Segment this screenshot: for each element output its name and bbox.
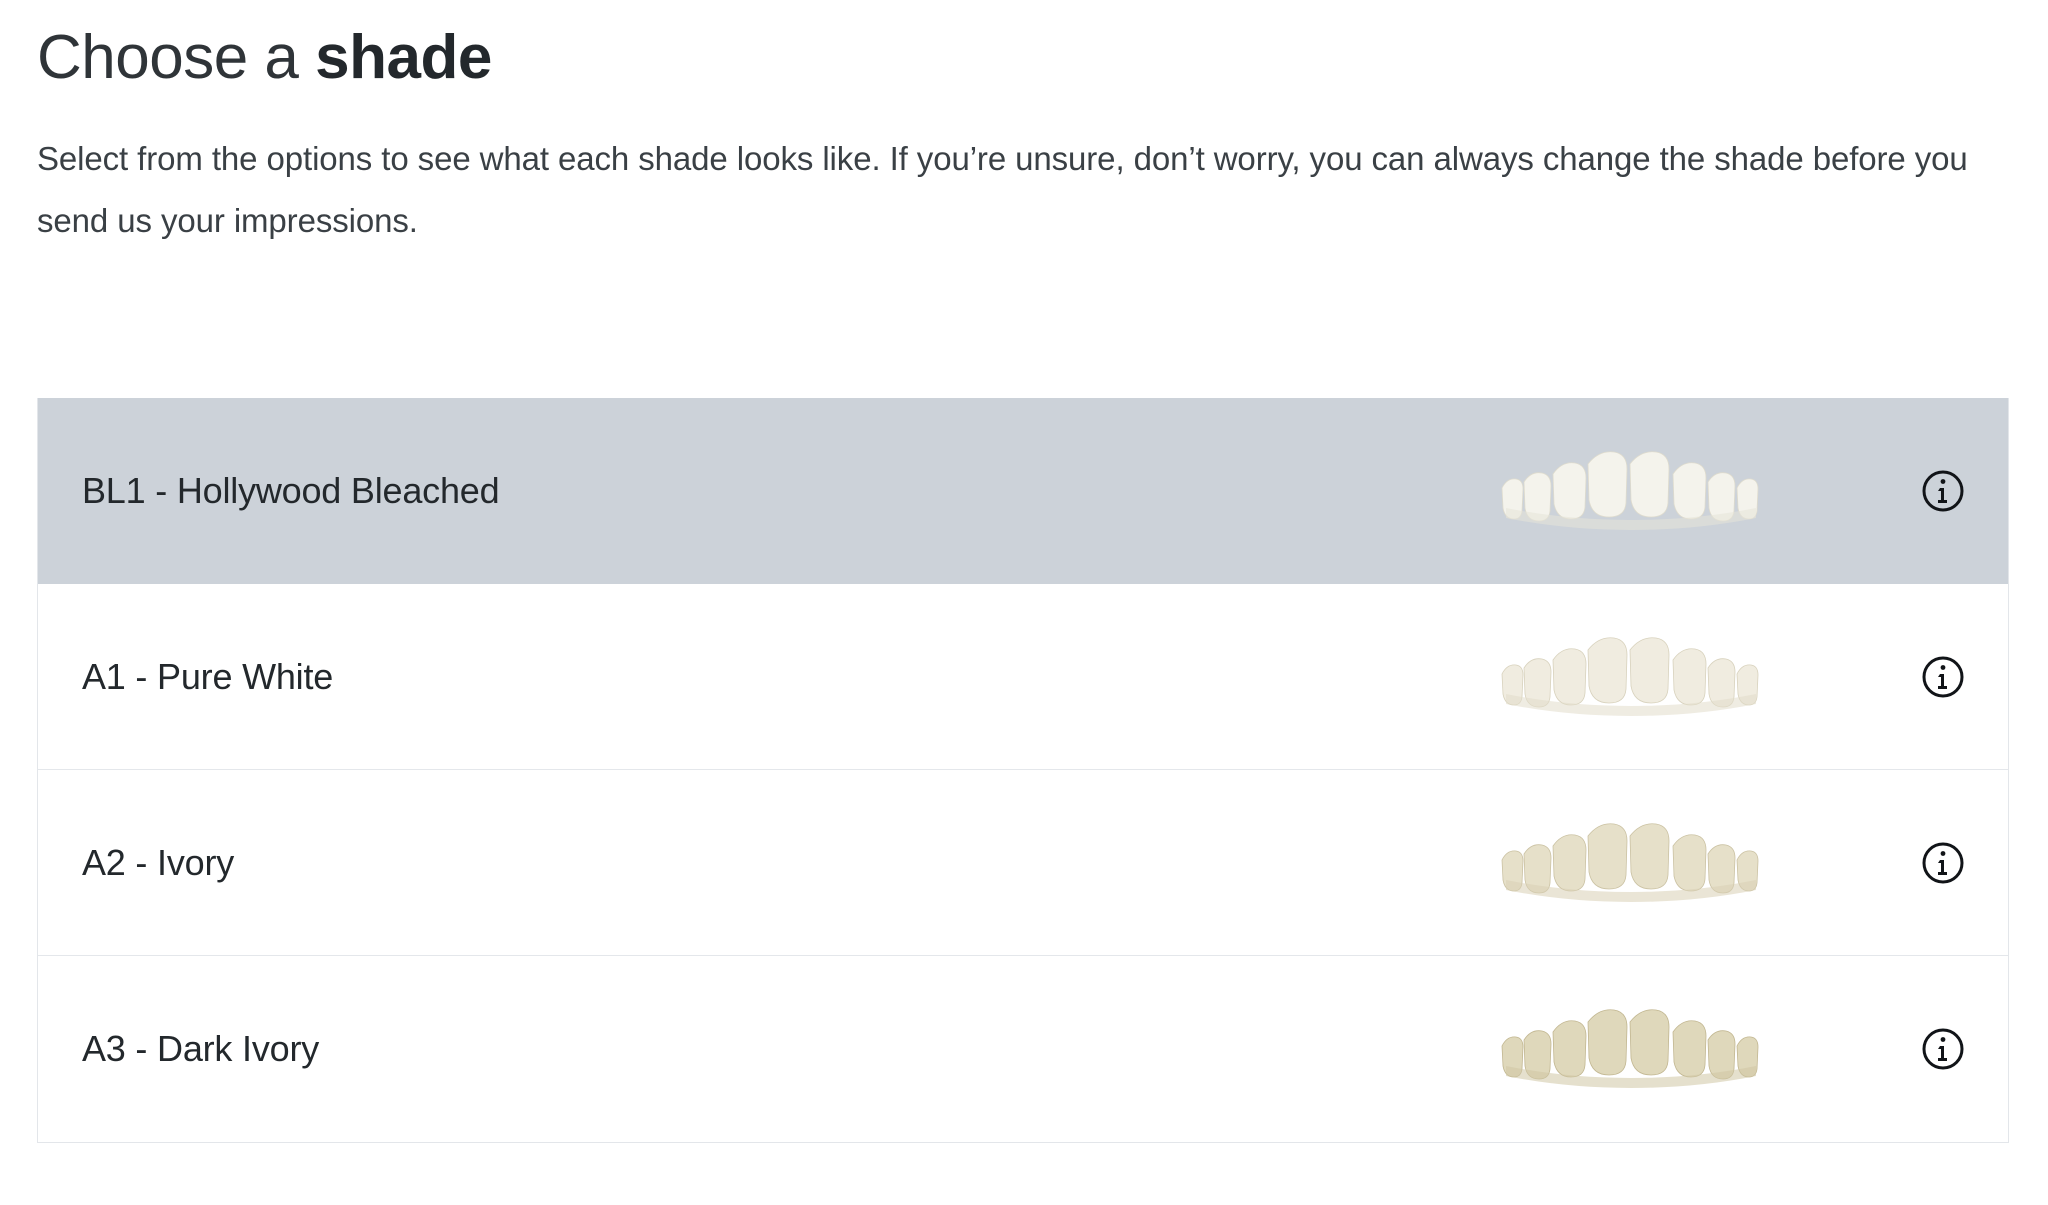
shade-option-row[interactable]: A1 - Pure White (38, 584, 2008, 770)
page-title: Choose a shade (37, 0, 2011, 96)
teeth-preview-icon (1496, 634, 1766, 720)
shade-options-list: BL1 - Hollywood Bleached (37, 398, 2009, 1143)
page-subtitle: Select from the options to see what each… (37, 96, 1997, 252)
page-title-light: Choose a (37, 23, 315, 92)
teeth-preview-icon (1496, 448, 1766, 534)
shade-option-label: A1 - Pure White (82, 655, 333, 699)
info-icon[interactable] (1916, 650, 1970, 704)
teeth-preview-icon (1496, 1006, 1766, 1092)
shade-option-row[interactable]: A2 - Ivory (38, 770, 2008, 956)
shade-option-row[interactable]: A3 - Dark Ivory (38, 956, 2008, 1142)
teeth-preview-icon (1496, 820, 1766, 906)
info-icon[interactable] (1916, 464, 1970, 518)
shade-option-label: BL1 - Hollywood Bleached (82, 469, 499, 513)
info-icon[interactable] (1916, 836, 1970, 890)
info-icon[interactable] (1916, 1022, 1970, 1076)
page-title-strong: shade (315, 23, 492, 92)
choose-shade-page: Choose a shade Select from the options t… (0, 0, 2048, 1205)
shade-option-label: A2 - Ivory (82, 841, 234, 885)
shade-option-label: A3 - Dark Ivory (82, 1027, 319, 1071)
shade-option-row[interactable]: BL1 - Hollywood Bleached (38, 398, 2008, 584)
